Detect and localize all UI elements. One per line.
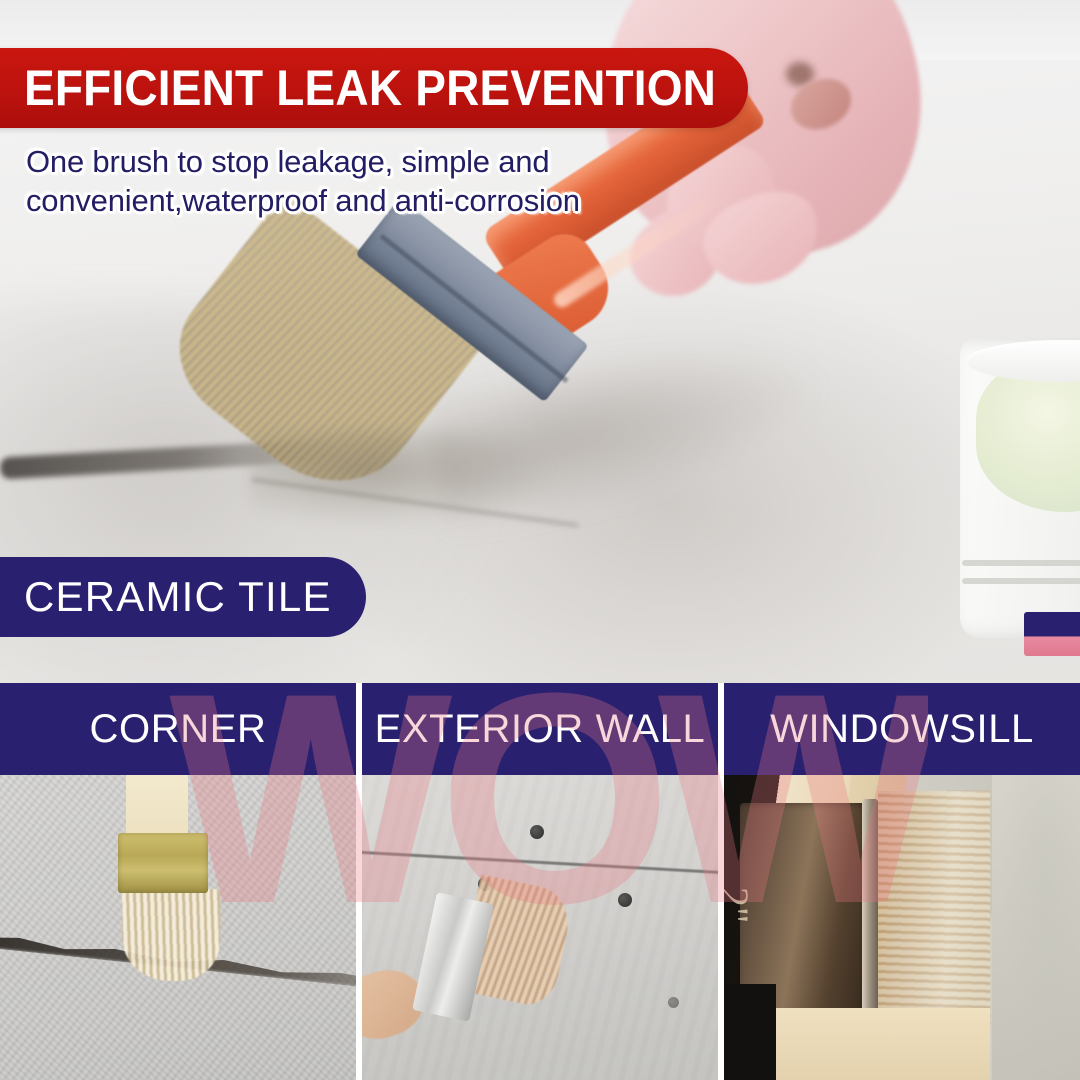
brush-size-mark: 2" [724, 887, 758, 923]
application-cell-exterior-wall: EXTERIOR WALL [362, 683, 718, 1080]
application-cell-windowsill: WINDOWSILL 2" [724, 683, 1080, 1080]
brush-ferrule [118, 833, 208, 893]
application-label-text: WINDOWSILL [770, 707, 1034, 752]
headline-banner: EFFICIENT LEAK PREVENTION [0, 48, 748, 128]
brush-handle [126, 775, 188, 841]
application-label-exterior-wall: EXTERIOR WALL [362, 683, 718, 775]
exterior-concrete-wall-photo [362, 775, 718, 1080]
ceramic-tile-badge: CERAMIC TILE [0, 557, 366, 637]
form-tie-hole [530, 825, 544, 839]
sill-shadow [724, 984, 776, 1080]
application-label-text: EXTERIOR WALL [375, 707, 706, 752]
application-label-windowsill: WINDOWSILL [724, 683, 1080, 775]
bristle-tip-shadow [250, 430, 550, 526]
brush-ferrule-edge [862, 799, 878, 1025]
bucket-ridge [962, 560, 1080, 566]
cracked-concrete-corner-photo [0, 775, 356, 1080]
headline-text: EFFICIENT LEAK PREVENTION [24, 63, 716, 113]
brush-bristles [122, 889, 220, 981]
product-poster: EFFICIENT LEAK PREVENTION One brush to s… [0, 0, 1080, 1080]
windowsill-board [740, 1008, 990, 1080]
brush-bristle-shading [878, 791, 990, 1029]
ceramic-tile-badge-label: CERAMIC TILE [24, 573, 332, 621]
bucket-label [1024, 612, 1080, 656]
application-strip: CORNER EXTERIOR WALL [0, 683, 1080, 1080]
subtitle-block: One brush to stop leakage, simple and co… [26, 142, 686, 221]
sill-wall-surface [992, 775, 1080, 1080]
windowsill-photo: 2" [724, 775, 1080, 1080]
subtitle-line-1: One brush to stop leakage, simple and [26, 142, 686, 181]
application-label-corner: CORNER [0, 683, 356, 775]
bucket-ridge [962, 578, 1080, 584]
form-tie-hole [668, 997, 679, 1008]
subtitle-line-2: convenient,waterproof and anti-corrosion [26, 181, 686, 220]
application-label-text: CORNER [90, 707, 267, 752]
form-tie-hole [618, 893, 632, 907]
application-cell-corner: CORNER [0, 683, 356, 1080]
